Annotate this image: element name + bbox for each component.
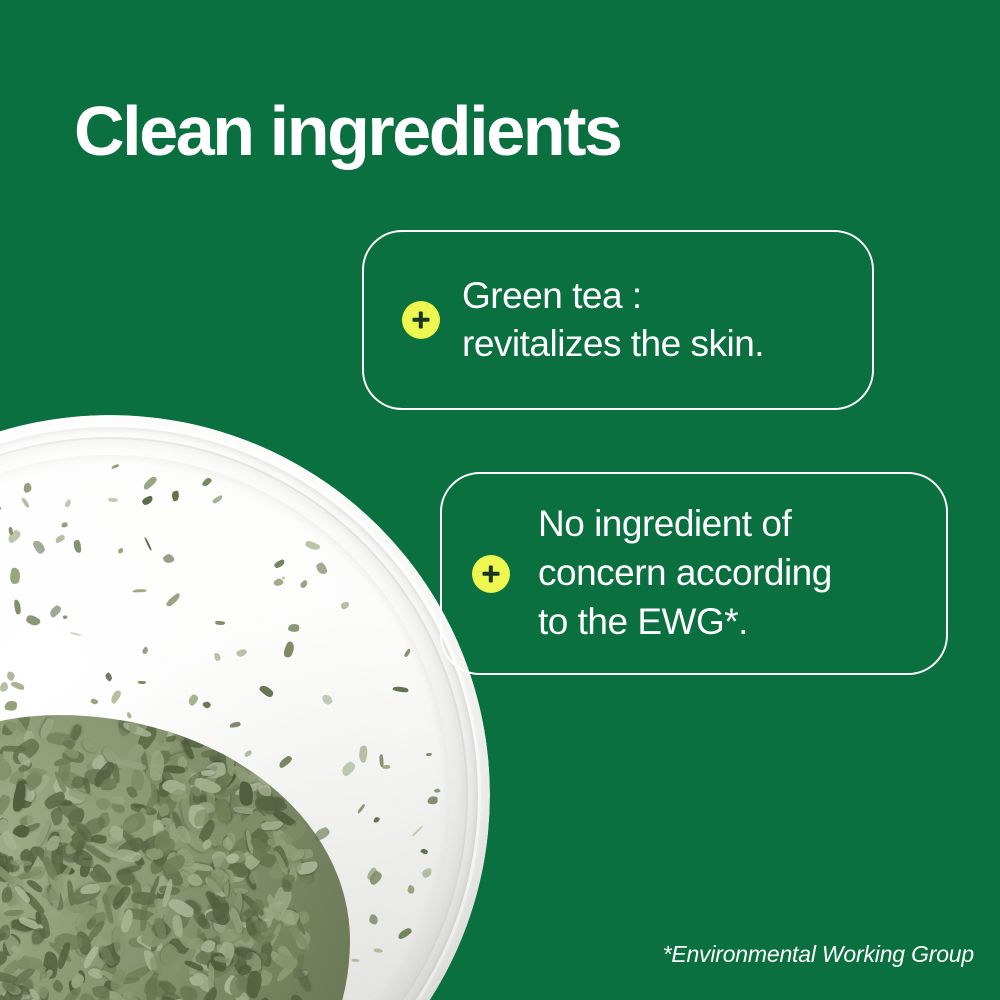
benefit-card-green-tea-text: Green tea : revitalizes the skin.	[462, 272, 764, 368]
benefit-card-ewg-text: No ingredient of concern according to th…	[538, 500, 832, 646]
plus-icon	[472, 555, 510, 593]
benefit-card-green-tea: Green tea : revitalizes the skin.	[362, 230, 874, 410]
footnote: *Environmental Working Group	[663, 941, 974, 968]
page-title: Clean ingredients	[74, 95, 621, 169]
benefit-card-ewg: No ingredient of concern according to th…	[440, 472, 948, 675]
tea-plate-photo	[0, 415, 490, 1000]
tea-leaf-pile	[0, 715, 350, 1000]
poster-canvas: Clean ingredients Green tea : revitalize…	[0, 0, 1000, 1000]
plus-icon	[402, 301, 440, 339]
